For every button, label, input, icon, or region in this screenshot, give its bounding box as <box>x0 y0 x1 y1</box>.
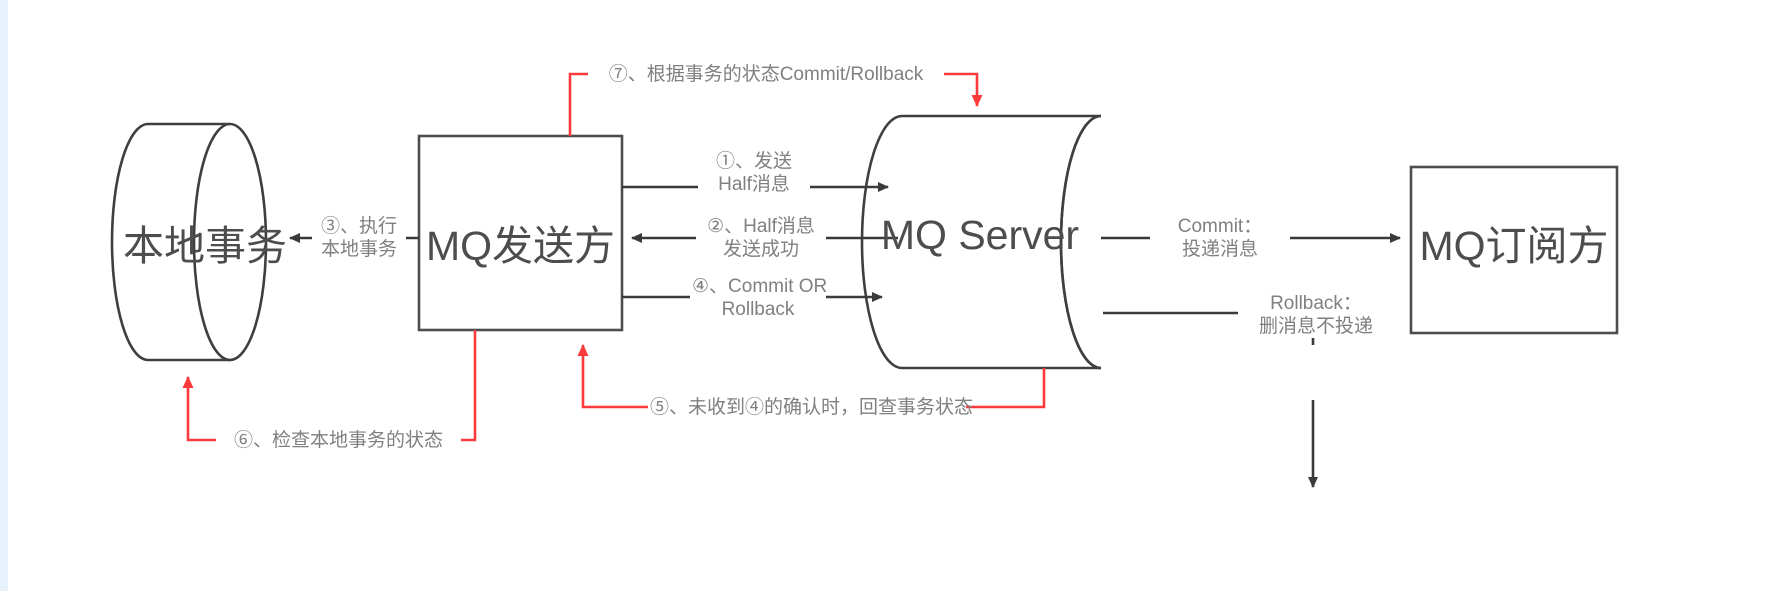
edge-label-step2-line2: 发送成功 <box>698 238 824 261</box>
edge-label-commit-line1: Commit： <box>1152 215 1288 238</box>
edge-label-step4: ④、Commit OR Rollback <box>690 275 826 321</box>
edge-label-rollback-line1: Rollback： <box>1240 292 1392 315</box>
edge-label-step1-line1: ①、发送 <box>700 150 808 173</box>
edge-label-commit-line2: 投递消息 <box>1152 238 1288 261</box>
node-label-mq-server: MQ Server <box>880 212 1080 259</box>
edge-rollback[interactable] <box>1103 313 1313 487</box>
edge-label-commit: Commit： 投递消息 <box>1150 215 1290 261</box>
edge-label-step4-line2: Rollback <box>692 298 824 321</box>
edge-label-step3: ③、执行 本地事务 <box>312 215 406 261</box>
edge-label-step7: ⑦、根据事务的状态Commit/Rollback <box>588 63 944 86</box>
edge-label-step2: ②、Half消息 发送成功 <box>696 215 826 261</box>
edge-label-step4-line1: ④、Commit OR <box>692 275 824 298</box>
node-label-mq-producer: MQ发送方 <box>419 212 622 272</box>
node-label-local-transaction: 本地事务 <box>85 212 325 272</box>
edge-label-step3-line1: ③、执行 <box>314 215 404 238</box>
edge-label-step6: ⑥、检查本地事务的状态 <box>216 429 461 452</box>
edge-label-step1-line2: Half消息 <box>700 173 808 196</box>
edge-label-step5: ⑤、未收到④的确认时，回查事务状态 <box>648 396 966 419</box>
edge-label-rollback-line2: 删消息不投递 <box>1240 315 1392 338</box>
diagram-canvas: 本地事务 MQ发送方 MQ Server MQ订阅方 ①、发送 Half消息 ②… <box>0 0 1765 591</box>
edge-label-step3-line2: 本地事务 <box>314 238 404 261</box>
diagram-shapes-layer <box>0 0 1765 591</box>
edge-label-step2-line1: ②、Half消息 <box>698 215 824 238</box>
edge-label-rollback: Rollback： 删消息不投递 <box>1238 292 1394 338</box>
node-label-mq-consumer: MQ订阅方 <box>1411 212 1617 272</box>
edge-label-step1: ①、发送 Half消息 <box>698 150 810 196</box>
